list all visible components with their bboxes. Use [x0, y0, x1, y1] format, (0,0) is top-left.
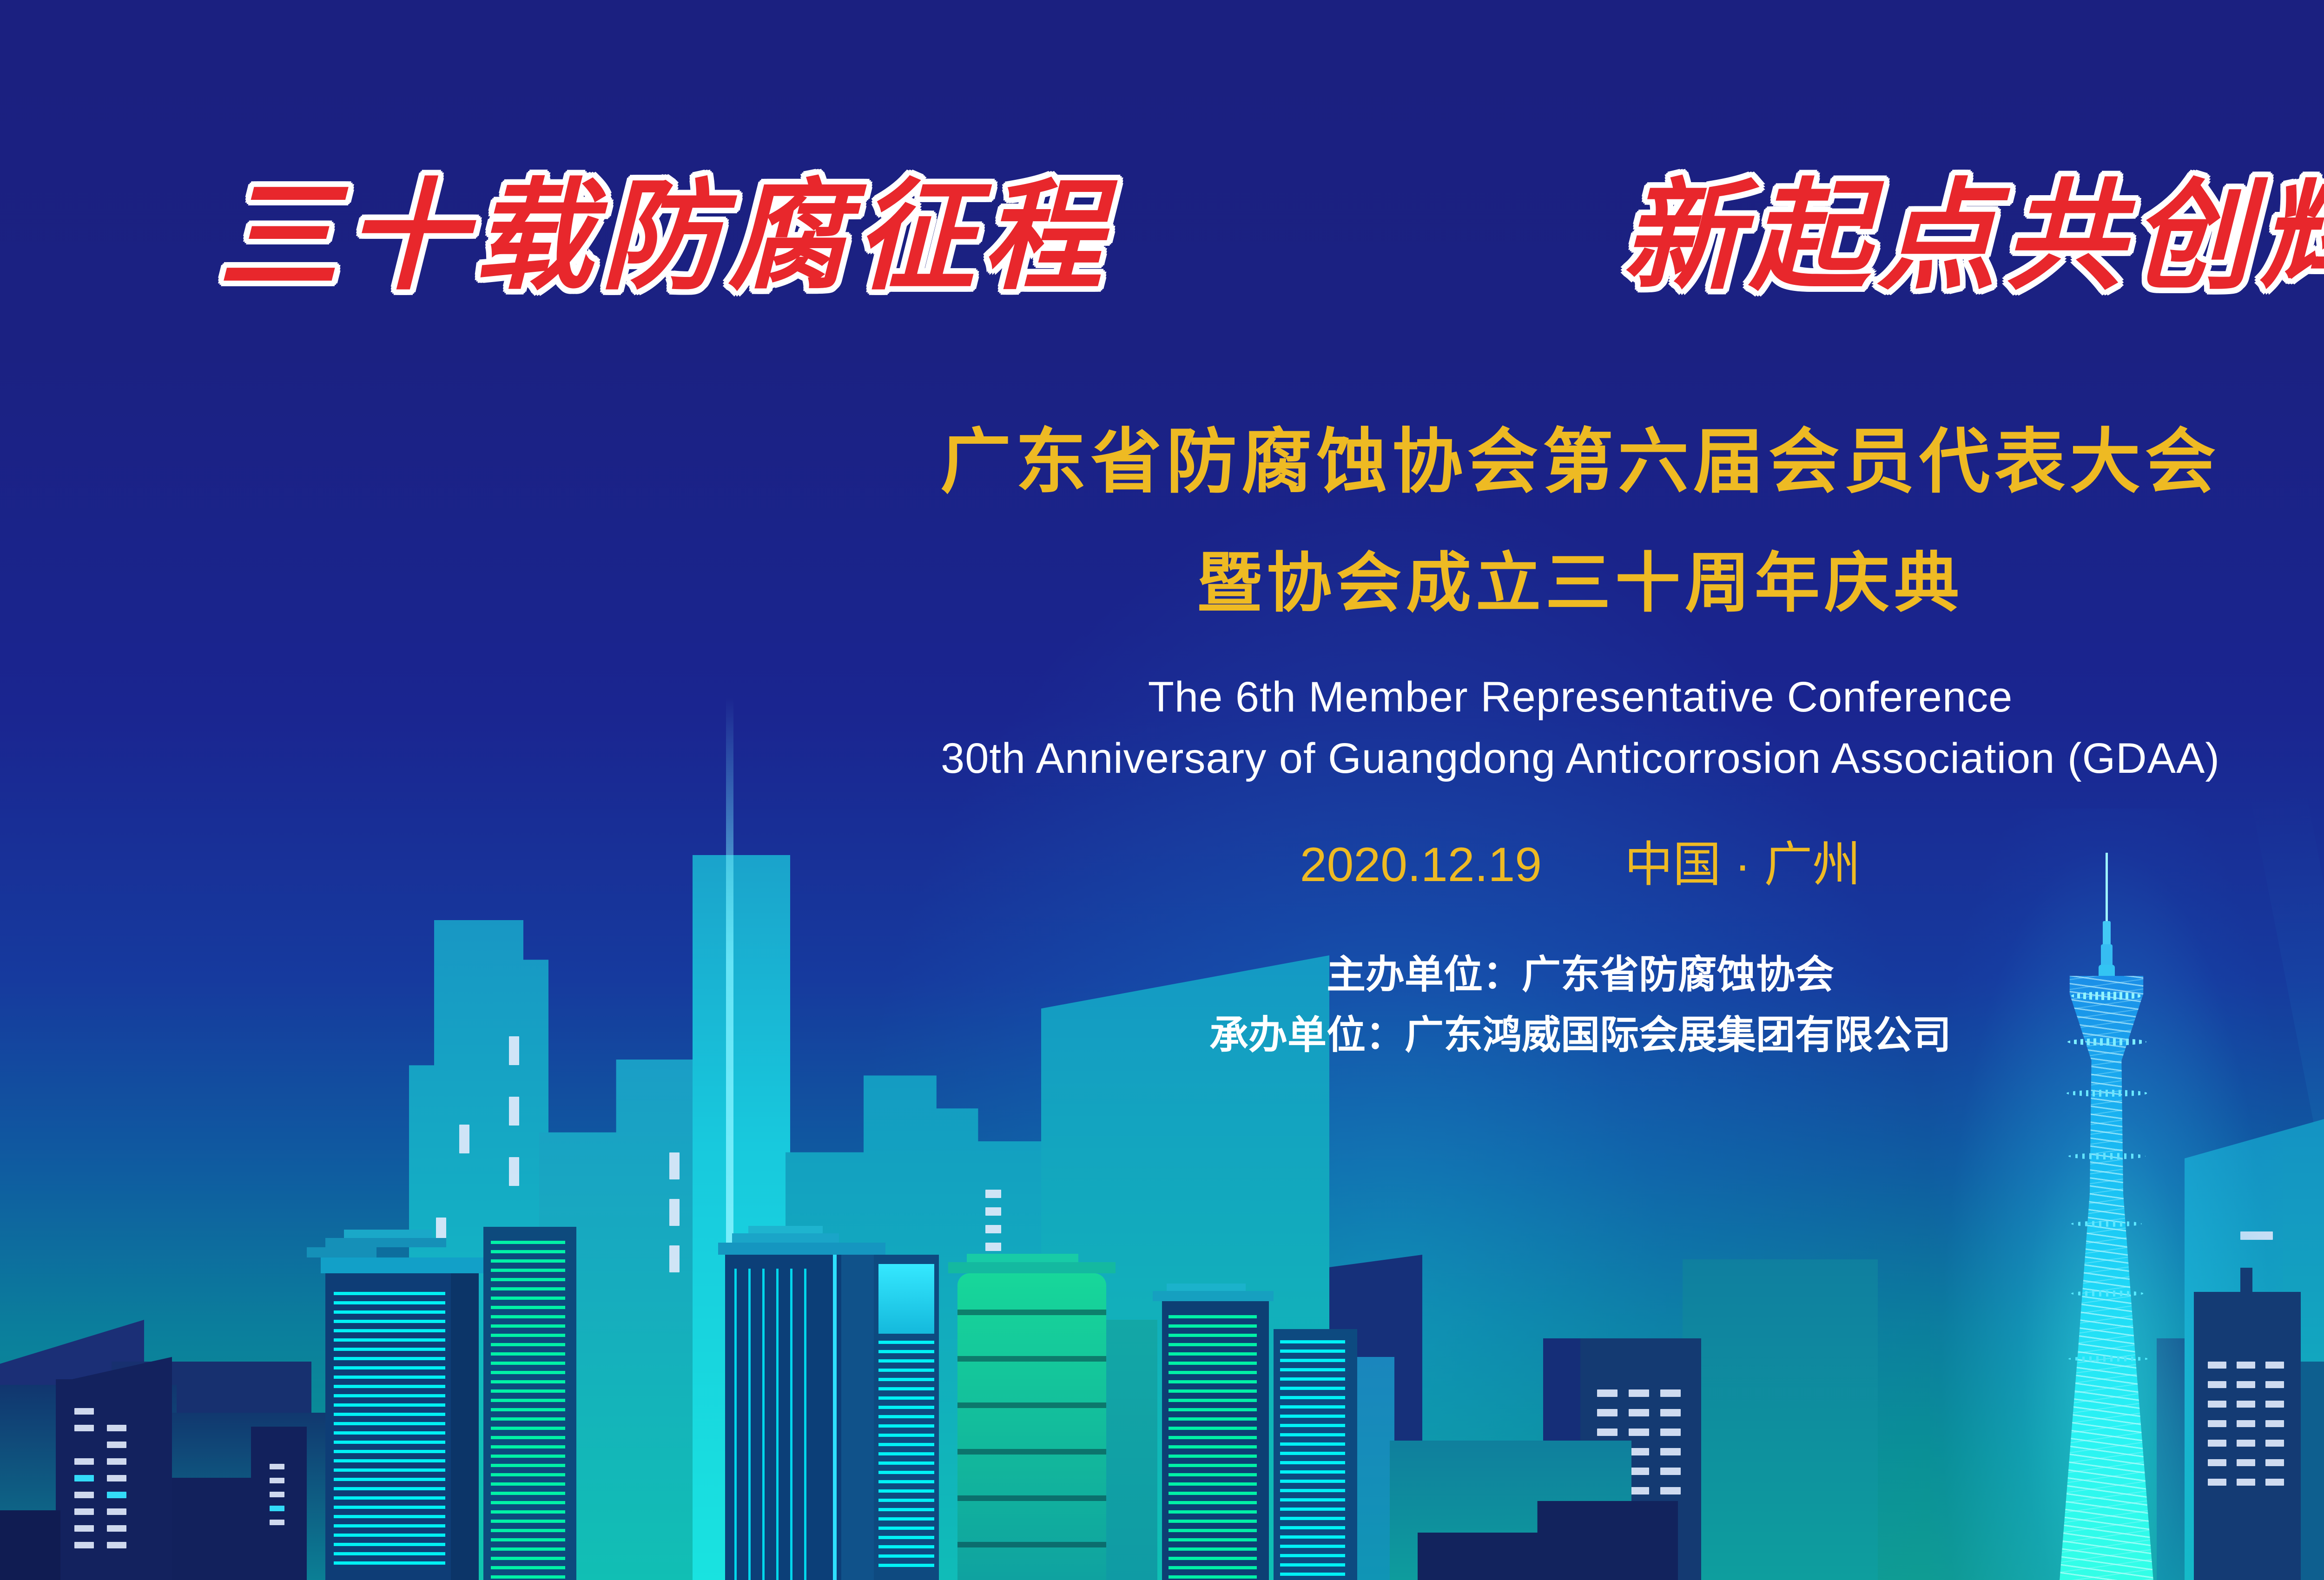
headline-left: 三十载防腐征程: [218, 139, 1110, 313]
title-cn-line-2: 暨协会成立三十周年庆典: [0, 531, 2324, 625]
event-location: 中国 · 广州: [1624, 838, 1861, 892]
conference-banner: 三十载防腐征程 新起点共创辉煌 广东省防腐蚀协会第六届会员代表大会 暨协会成立三…: [0, 0, 2324, 1580]
organizer-host-value: 广东省防腐蚀协会: [1522, 953, 1834, 996]
organizer-host-label: 主办单位：: [1327, 953, 1522, 996]
organizer-coordinator-label: 承办单位：: [1209, 1013, 1405, 1057]
title-en-line-1: The 6th Member Representative Conference: [0, 673, 2324, 722]
event-date: 2020.12.19: [1300, 838, 1542, 892]
event-datetime-location: 2020.12.19 中国 · 广州: [0, 825, 2324, 895]
headline-right: 新起点共创辉煌: [1622, 139, 2324, 313]
title-cn-line-1: 广东省防腐蚀协会第六届会员代表大会: [0, 404, 2324, 507]
organizer-coordinator: 承办单位：广东鸿威国际会展集团有限公司: [0, 1004, 2324, 1060]
organizer-host: 主办单位：广东省防腐蚀协会: [0, 943, 2324, 1000]
title-en-line-2: 30th Anniversary of Guangdong Anticorros…: [0, 734, 2324, 783]
organizer-coordinator-value: 广东鸿威国际会展集团有限公司: [1405, 1013, 1951, 1057]
